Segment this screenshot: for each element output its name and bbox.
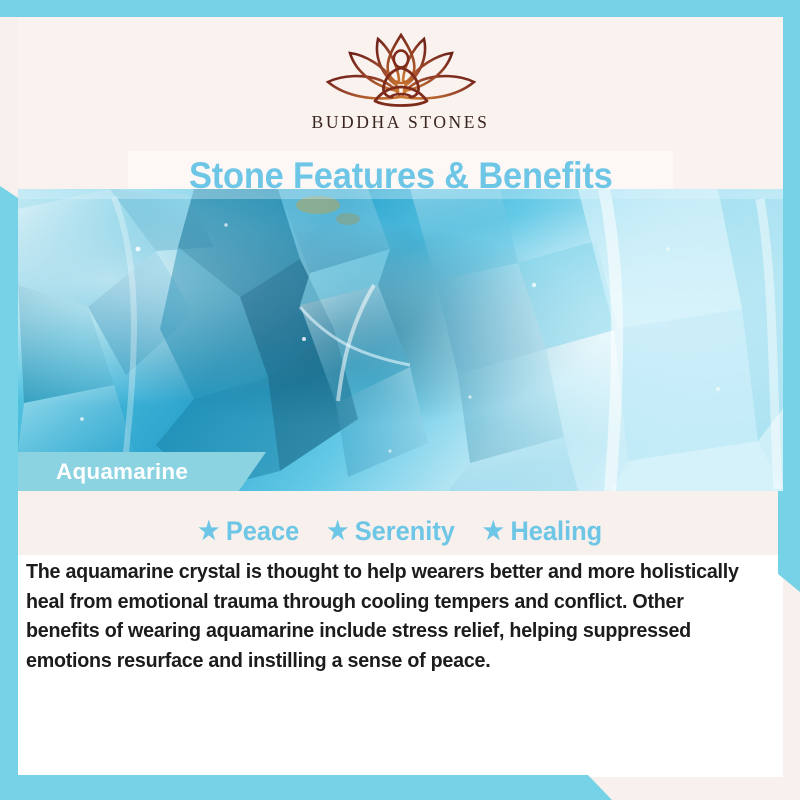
stone-description: The aquamarine crystal is thought to hel… [26,558,748,676]
crystal-photo-artwork [18,189,783,491]
benefits-row: ★ Peace ★ Serenity ★ Healing [18,512,783,550]
brand-logo: BUDDHA STONES [18,27,783,133]
lotus-meditation-figure-icon [312,27,490,111]
benefit-item-serenity: ★ Serenity [327,516,455,547]
benefit-item-peace: ★ Peace [199,516,300,547]
infographic-canvas: BUDDHA STONES Stone Features & Benefits [0,0,800,800]
frame-bottom-border [0,775,612,800]
star-icon: ★ [199,519,220,544]
benefit-item-healing: ★ Healing [483,516,602,547]
frame-top-border [0,0,800,17]
star-icon: ★ [327,519,348,544]
aquamarine-crystal-photo [18,189,783,491]
benefit-label: Healing [510,516,602,547]
brand-name: BUDDHA STONES [312,112,490,133]
stone-name-label: Aquamarine [56,459,188,485]
stone-name-ribbon: Aquamarine [18,452,266,491]
star-icon: ★ [483,519,504,544]
benefit-label: Serenity [355,516,455,547]
benefit-label: Peace [226,516,299,547]
frame-left-border [0,186,18,778]
header-section: BUDDHA STONES Stone Features & Benefits [18,17,783,189]
